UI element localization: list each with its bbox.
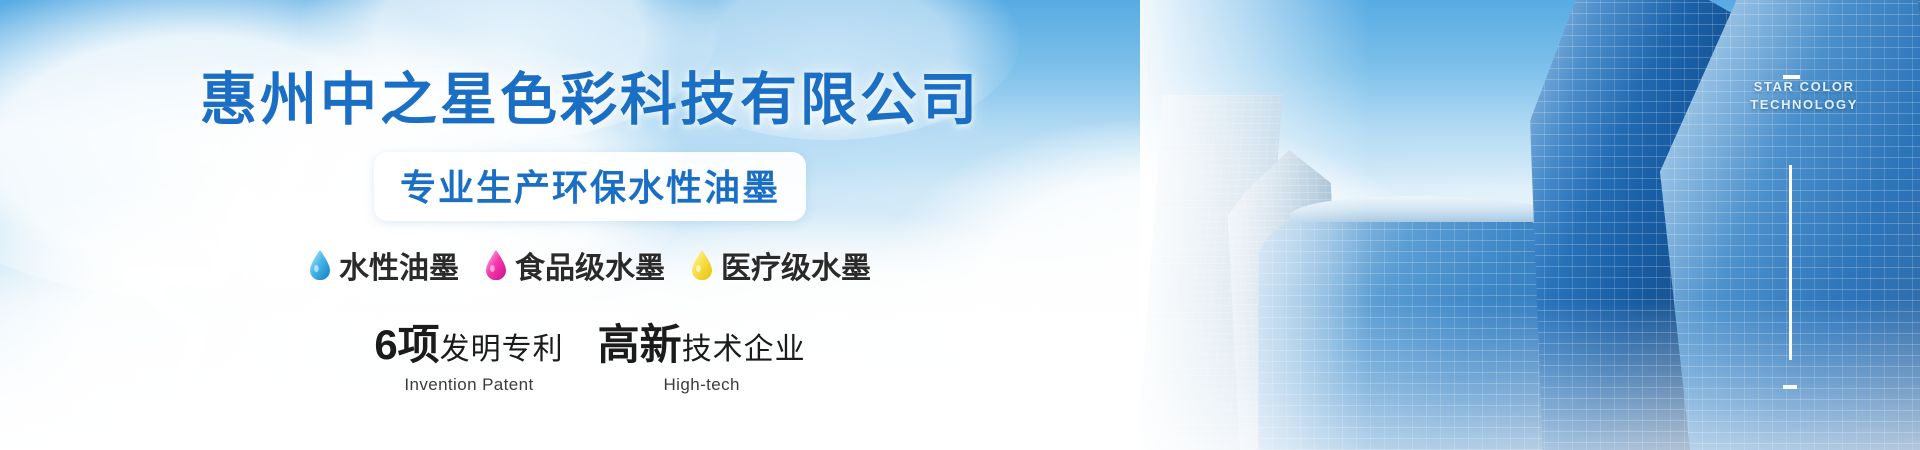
badge-invention-patent: 6项 发明专利 Invention Patent [374, 311, 563, 395]
marker-tick-bottom [1783, 385, 1797, 389]
badge-small-text: 发明专利 [440, 324, 564, 368]
badge-english-text: High-tech [598, 375, 806, 395]
badge-big-text: 高新 [598, 311, 682, 372]
water-drop-icon [309, 250, 331, 280]
badge-english-text: Invention Patent [374, 375, 563, 395]
city-label-line-1: STAR COLOR [1750, 78, 1858, 96]
banner-content: 惠州中之星色彩科技有限公司 专业生产环保水性油墨 水性油墨 [0, 0, 1180, 450]
feature-item: 医疗级水墨 [691, 243, 871, 287]
feature-label: 食品级水墨 [515, 243, 665, 287]
promo-banner: Star Color STAR COLOR TECHNOLOGY 惠州中之星色彩… [0, 0, 1920, 450]
credential-badges: 6项 发明专利 Invention Patent 高新 技术企业 High-te… [374, 311, 805, 395]
city-label-line-2: TECHNOLOGY [1750, 96, 1858, 114]
city-overlay-label: STAR COLOR TECHNOLOGY [1750, 78, 1858, 113]
company-headline: 惠州中之星色彩科技有限公司 [200, 54, 980, 136]
feature-item: 水性油墨 [309, 243, 459, 287]
subtitle-text: 专业生产环保水性油墨 [400, 159, 780, 211]
city-skyline-photo: STAR COLOR TECHNOLOGY [1140, 0, 1920, 450]
feature-item: 食品级水墨 [485, 243, 665, 287]
marker-rule-vertical [1789, 165, 1792, 360]
feature-label: 水性油墨 [339, 243, 459, 287]
feature-list: 水性油墨 食品级水墨 [309, 243, 871, 287]
badge-small-text: 技术企业 [682, 324, 806, 368]
badge-big-text: 6项 [374, 311, 439, 372]
water-drop-icon [485, 250, 507, 280]
water-drop-icon [691, 250, 713, 280]
badge-high-tech: 高新 技术企业 High-tech [598, 311, 806, 395]
feature-label: 医疗级水墨 [721, 243, 871, 287]
subtitle-pill: 专业生产环保水性油墨 [374, 152, 806, 221]
